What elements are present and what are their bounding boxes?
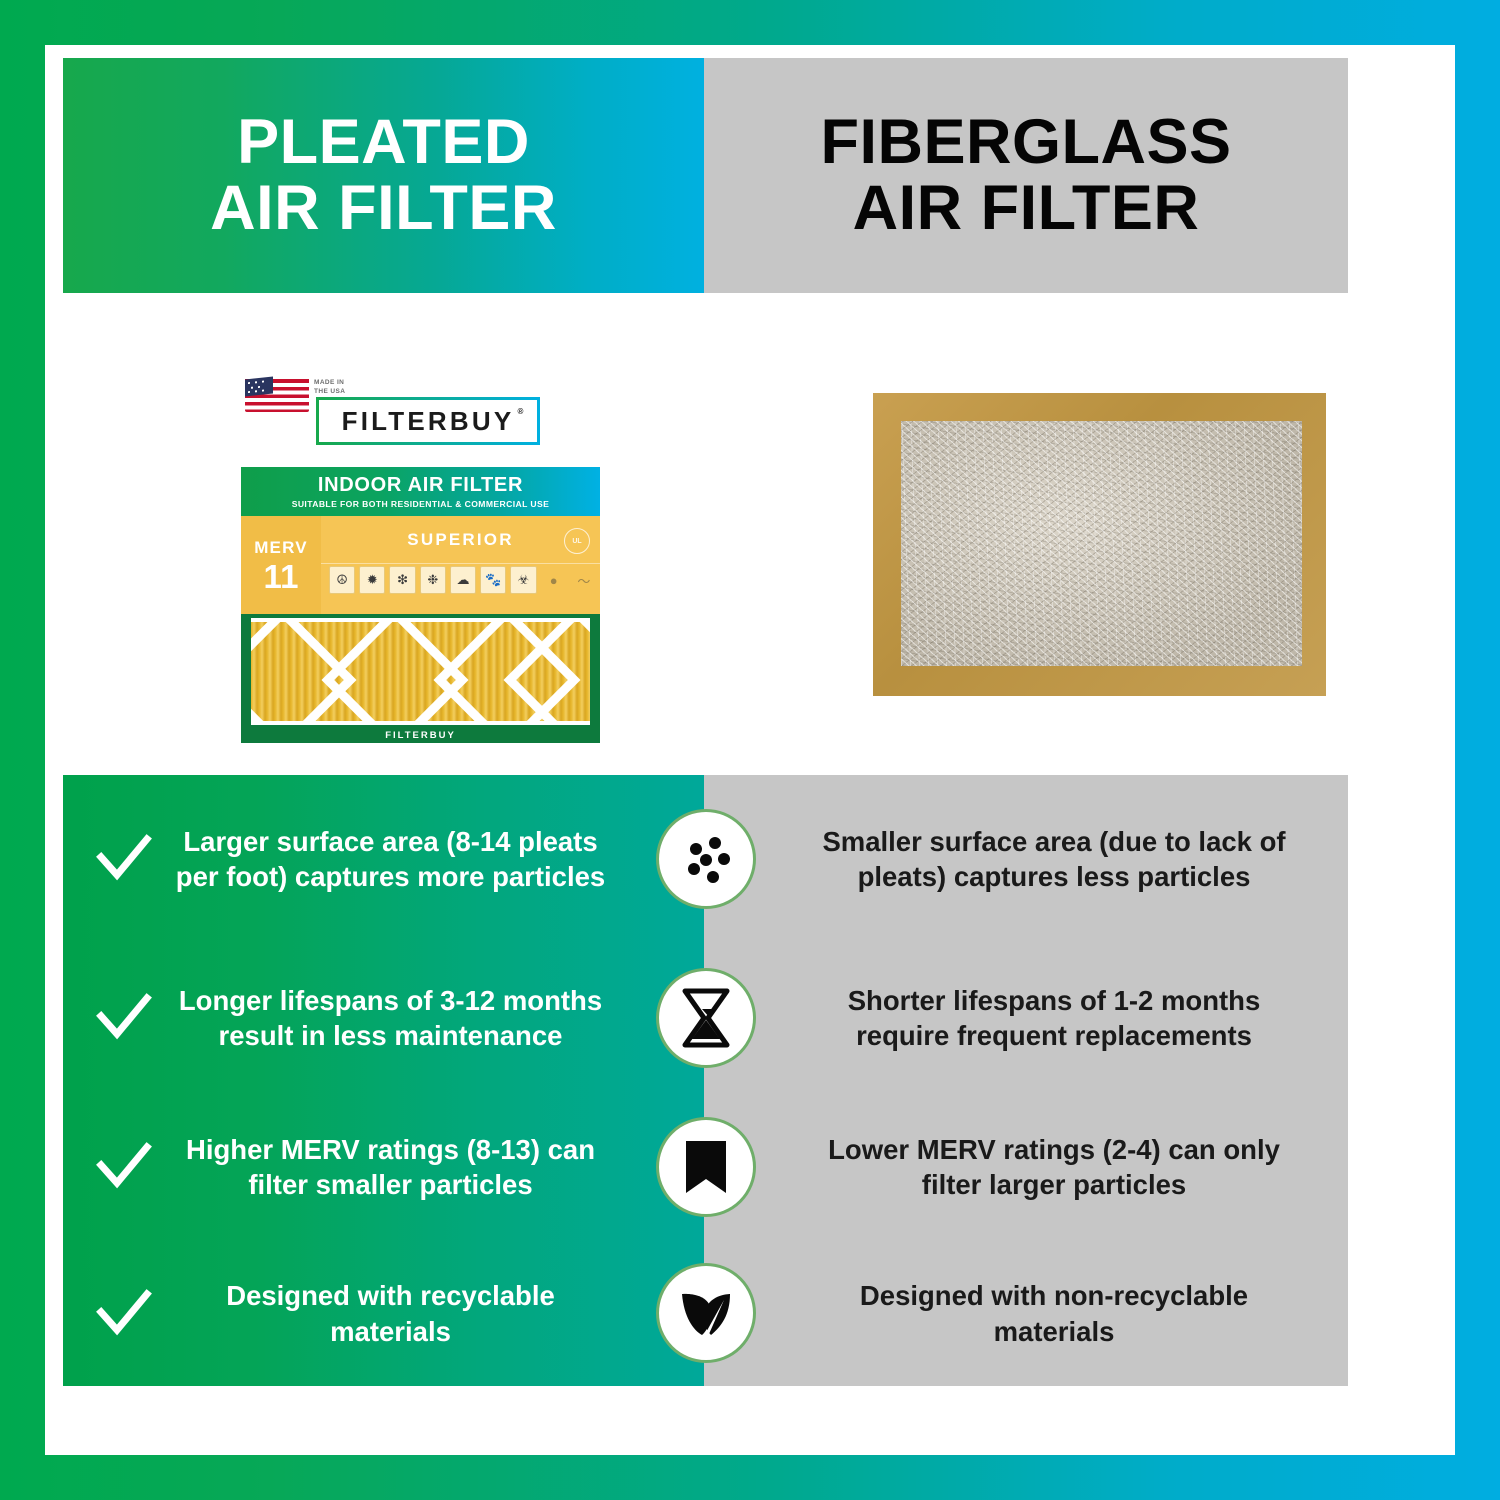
pollen-icon: ✹ xyxy=(359,566,385,594)
comparison-cell-left: Longer lifespans of 3-12 months result i… xyxy=(63,983,704,1053)
fiberglass-mesh xyxy=(901,421,1302,666)
registered-trademark-icon: ® xyxy=(517,407,523,416)
mold-icon: ❉ xyxy=(420,566,446,594)
usa-flag-icon xyxy=(245,376,309,412)
filterbuy-logo-text: FILTERBUY® xyxy=(342,406,515,437)
comparison-text-right: Lower MERV ratings (2-4) can only filter… xyxy=(804,1132,1304,1202)
checkmark-icon xyxy=(95,989,153,1047)
tier-label: SUPERIOR xyxy=(407,530,513,550)
product-images-strip: MADE IN THE USA FILTERBUY® INDOOR AIR FI… xyxy=(63,293,1348,738)
pleat-support-grid xyxy=(251,618,590,725)
header-pleated-title: PLEATED AIR FILTER xyxy=(210,110,557,241)
header-fiberglass-panel: FIBERGLASS AIR FILTER xyxy=(704,58,1348,293)
pleated-media-area: FILTERBUY xyxy=(241,614,600,743)
hourglass-icon xyxy=(656,968,756,1068)
comparison-cell-left: Higher MERV ratings (8-13) can filter sm… xyxy=(63,1132,704,1202)
comparison-text-right: Designed with non-recyclable materials xyxy=(804,1278,1304,1348)
fiberglass-filter-image xyxy=(873,393,1326,696)
comparison-cell-right: Smaller surface area (due to lack of ple… xyxy=(704,824,1348,894)
merv-rating-block: MERV 11 xyxy=(241,516,321,614)
checkmark-icon xyxy=(95,830,153,888)
pet-dander-icon: 🐾 xyxy=(480,566,506,594)
odor-icon: 〜 xyxy=(571,566,597,594)
pleated-filter-box-image: MADE IN THE USA FILTERBUY® INDOOR AIR FI… xyxy=(241,371,600,743)
comparison-cell-right: Shorter lifespans of 1-2 months require … xyxy=(704,983,1348,1053)
comparison-cell-left: Larger surface area (8-14 pleats per foo… xyxy=(63,824,704,894)
feature-icon-row: ☮ ✹ ❇ ❉ ☁ 🐾 ☣ ● 〜 xyxy=(329,566,597,610)
header-fiberglass-title: FIBERGLASS AIR FILTER xyxy=(820,110,1231,241)
table-row: Higher MERV ratings (8-13) can filter sm… xyxy=(63,1093,1348,1241)
checkmark-icon xyxy=(95,1285,153,1343)
box-footer-brand: FILTERBUY xyxy=(241,730,600,741)
comparison-text-left: Larger surface area (8-14 pleats per foo… xyxy=(173,824,608,894)
infographic-page: PLEATED AIR FILTER FIBERGLASS AIR FILTER… xyxy=(0,0,1500,1500)
smoke-icon: ☁ xyxy=(450,566,476,594)
comparison-text-right: Smaller surface area (due to lack of ple… xyxy=(804,824,1304,894)
indoor-band-subtitle: SUITABLE FOR BOTH RESIDENTIAL & COMMERCI… xyxy=(292,499,550,509)
table-row: Designed with recyclable materials Desig… xyxy=(63,1241,1348,1386)
comparison-text-left: Designed with recyclable materials xyxy=(173,1278,608,1348)
allergen-icon: ☣ xyxy=(510,566,536,594)
comparison-cell-right: Lower MERV ratings (2-4) can only filter… xyxy=(704,1132,1348,1202)
virus-icon: ● xyxy=(541,566,567,594)
comparison-text-left: Longer lifespans of 3-12 months result i… xyxy=(173,983,608,1053)
header-band: PLEATED AIR FILTER FIBERGLASS AIR FILTER xyxy=(63,58,1348,293)
dust-icon: ☮ xyxy=(329,566,355,594)
filterbuy-logo: FILTERBUY® xyxy=(316,397,540,445)
bookmark-icon xyxy=(656,1117,756,1217)
comparison-section: Larger surface area (8-14 pleats per foo… xyxy=(63,775,1348,1386)
tier-row: SUPERIOR xyxy=(321,516,600,564)
made-in-usa-label: MADE IN THE USA xyxy=(314,379,345,397)
merv-value: 11 xyxy=(264,560,299,593)
merv-gold-band: MERV 11 SUPERIOR UL ☮ ✹ ❇ ❉ ☁ 🐾 ☣ ● 〜 xyxy=(241,516,600,614)
table-row: Larger surface area (8-14 pleats per foo… xyxy=(63,775,1348,943)
comparison-text-left: Higher MERV ratings (8-13) can filter sm… xyxy=(173,1132,608,1202)
leaf-icon xyxy=(656,1263,756,1363)
comparison-text-right: Shorter lifespans of 1-2 months require … xyxy=(804,983,1304,1053)
comparison-cell-right: Designed with non-recyclable materials xyxy=(704,1278,1348,1348)
merv-label: MERV xyxy=(254,538,308,558)
indoor-band-title: INDOOR AIR FILTER xyxy=(318,474,523,497)
indoor-air-filter-band: INDOOR AIR FILTER SUITABLE FOR BOTH RESI… xyxy=(241,467,600,516)
ul-certification-icon: UL xyxy=(564,528,590,554)
comparison-rows: Larger surface area (8-14 pleats per foo… xyxy=(63,775,1348,1386)
header-pleated-panel: PLEATED AIR FILTER xyxy=(63,58,704,293)
comparison-cell-left: Designed with recyclable materials xyxy=(63,1278,704,1348)
bacteria-icon: ❇ xyxy=(389,566,415,594)
particles-icon xyxy=(656,809,756,909)
table-row: Longer lifespans of 3-12 months result i… xyxy=(63,943,1348,1093)
checkmark-icon xyxy=(95,1138,153,1196)
